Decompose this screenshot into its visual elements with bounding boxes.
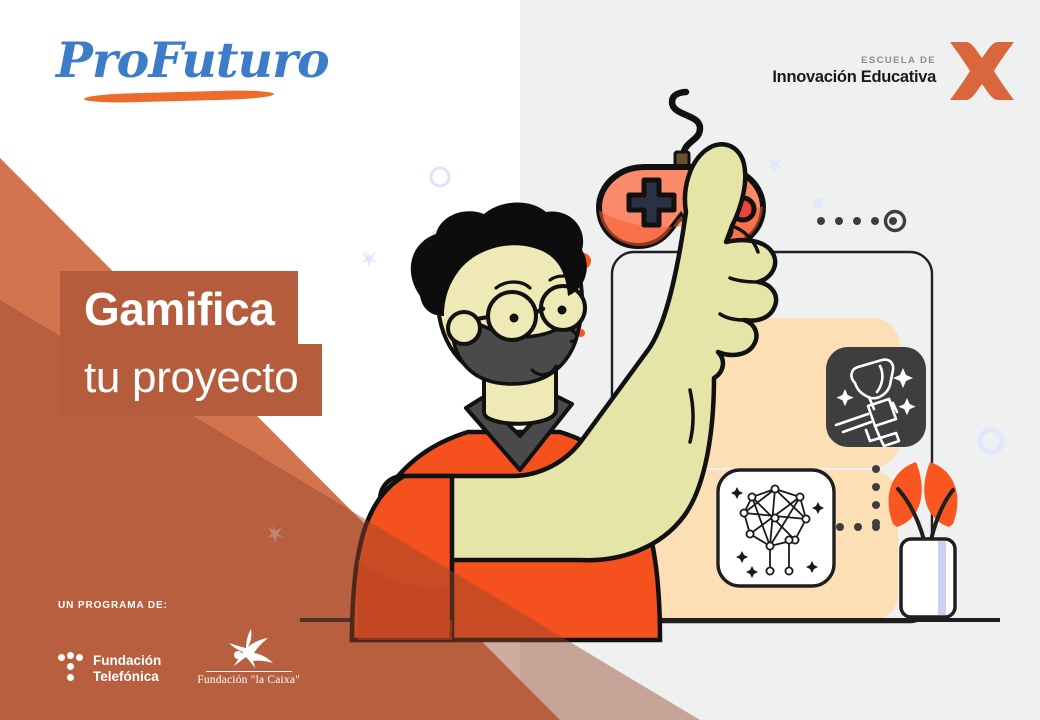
background-gray-panel [520, 0, 1040, 720]
sponsor-pretitle: UN PROGRAMA DE: [58, 600, 300, 611]
telefonica-wordmark: Fundación Telefónica [93, 653, 161, 684]
decor-sparkle-lavender [360, 250, 378, 268]
profuturo-logo[interactable]: ProFuturo [56, 36, 286, 108]
telefonica-line-2: Telefónica [93, 669, 161, 685]
escuela-title: Innovación Educativa [772, 68, 936, 88]
fundacion-telefonica-logo[interactable]: Fundación Telefónica [58, 652, 161, 686]
ear [448, 312, 480, 344]
sponsor-logos: Fundación Telefónica Fundación "la Caixa… [58, 627, 300, 686]
escuela-text: ESCUELA DE Innovación Educativa [772, 54, 936, 87]
decor-dot-lavender [432, 230, 442, 240]
lacaixa-rule [206, 671, 292, 672]
profuturo-wordmark: ProFuturo [56, 36, 286, 85]
headline-line-2: tu proyecto [60, 344, 322, 416]
page-title: Gamifica tu proyecto [60, 271, 322, 416]
decor-ring-lavender [431, 168, 449, 186]
telefonica-dots-icon [58, 652, 84, 686]
fundacion-lacaixa-logo[interactable]: Fundación "la Caixa" [197, 627, 300, 686]
escuela-innovacion-logo[interactable]: ESCUELA DE Innovación Educativa [772, 40, 1018, 102]
x-mark-icon [946, 40, 1018, 102]
profuturo-swoosh-icon [84, 90, 274, 104]
sponsor-block: UN PROGRAMA DE: Fundación Telefónica [58, 600, 300, 686]
lacaixa-star-icon [221, 627, 277, 669]
escuela-pretitle: ESCUELA DE [772, 54, 936, 67]
headline-line-1: Gamifica [60, 271, 298, 345]
poster-canvas: ProFuturo ESCUELA DE Innovación Educativ… [0, 0, 1040, 720]
lacaixa-caption: Fundación "la Caixa" [197, 674, 300, 686]
telefonica-line-1: Fundación [93, 653, 161, 669]
eye-left [510, 314, 519, 323]
